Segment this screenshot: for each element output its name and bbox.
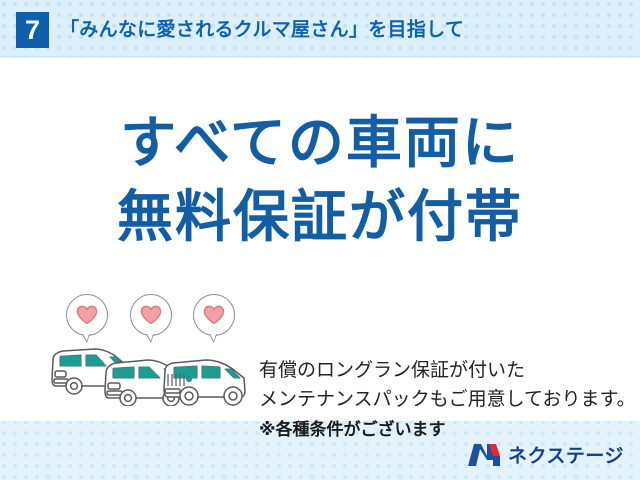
body-copy: 有償のロングラン保証が付いた メンテナンスパックもご用意しております。 ※各種条… xyxy=(259,356,634,444)
heart-icon xyxy=(140,305,162,325)
heart-icon xyxy=(76,305,98,325)
headline: すべての車両に 無料保証が付帯 xyxy=(0,106,640,254)
headline-line-1: すべての車両に xyxy=(0,106,640,180)
heart-icon xyxy=(203,305,225,325)
promo-slide: 7 「みんなに愛されるクルマ屋さん」を目指して すべての車両に 無料保証が付帯 xyxy=(0,0,640,480)
heart-speech-bubble xyxy=(66,294,108,336)
headline-line-2: 無料保証が付帯 xyxy=(0,180,640,254)
lower-content: 有償のロングラン保証が付いた メンテナンスパックもご用意しております。 ※各種条… xyxy=(0,286,640,421)
nexstage-n-logo-icon xyxy=(467,442,501,468)
content-card: すべての車両に 無料保証が付帯 xyxy=(0,58,640,421)
heart-speech-bubble xyxy=(193,294,235,336)
heart-speech-bubble xyxy=(130,294,172,336)
section-number-badge: 7 xyxy=(16,12,49,48)
body-copy-note: ※各種条件がございます xyxy=(259,415,634,444)
body-copy-line-1: 有償のロングラン保証が付いた xyxy=(259,356,634,385)
header-title: 「みんなに愛されるクルマ屋さん」を目指して xyxy=(60,15,464,42)
header-band: 7 「みんなに愛されるクルマ屋さん」を目指して xyxy=(0,0,640,57)
cars-illustration xyxy=(48,286,253,406)
three-cars-group xyxy=(48,341,253,406)
brand-logo: ネクステージ xyxy=(467,441,624,468)
brand-logo-text: ネクステージ xyxy=(508,441,624,468)
body-copy-line-2: メンテナンスパックもご用意しております。 xyxy=(259,385,634,414)
